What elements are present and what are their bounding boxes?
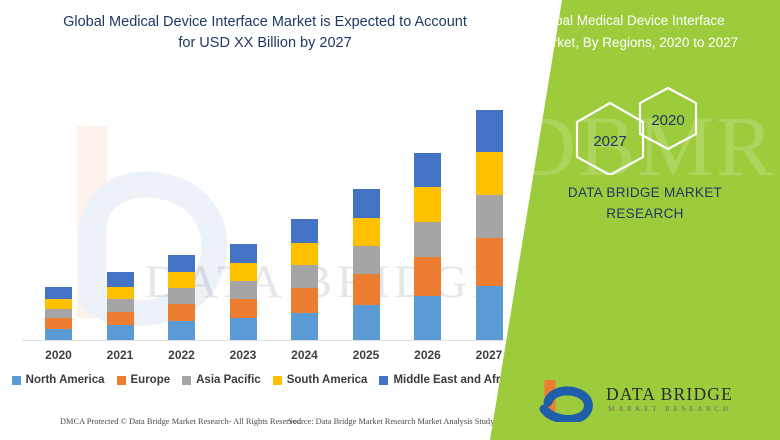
legend-label: Asia Pacific — [196, 374, 261, 386]
bar-segment — [353, 274, 380, 305]
bar-segment — [230, 244, 257, 263]
infographic-root: DATA BRIDGE MARKET RESEARCH Global Medic… — [0, 0, 780, 440]
bar-segment — [414, 296, 441, 340]
bar-segment — [45, 329, 72, 340]
bar-segment — [230, 299, 257, 318]
bar-segment — [353, 246, 380, 274]
bar-segment — [291, 219, 318, 243]
company-logo: DATA BRIDGE MARKET RESEARCH — [534, 378, 764, 424]
bar-segment — [107, 325, 134, 340]
bar-2020 — [45, 287, 72, 340]
x-axis-label-2026: 2026 — [400, 348, 456, 362]
hexagon-group: 2020 2027 — [550, 85, 740, 175]
bar-segment — [291, 288, 318, 313]
legend-item[interactable]: Europe — [117, 374, 171, 386]
hexagon-2020-label: 2020 — [651, 112, 684, 129]
bar-2021 — [107, 272, 134, 340]
bar-segment — [291, 265, 318, 288]
bar-segment — [168, 255, 195, 272]
bar-segment — [107, 272, 134, 287]
footer-copyright: DMCA Protected © Data Bridge Market Rese… — [60, 417, 303, 426]
chart-baseline — [22, 340, 512, 341]
panel-title: Global Medical Device Interface Market, … — [534, 10, 769, 54]
bar-2026 — [414, 153, 441, 340]
legend-swatch-icon — [12, 376, 21, 385]
x-axis-label-2024: 2024 — [277, 348, 333, 362]
bar-2022 — [168, 255, 195, 340]
bar-segment — [168, 272, 195, 288]
bar-2025 — [353, 189, 380, 340]
bar-segment — [107, 287, 134, 299]
legend-label: North America — [26, 374, 105, 386]
hexagon-2027-label: 2027 — [593, 133, 626, 150]
bar-segment — [476, 238, 503, 286]
bar-2024 — [291, 219, 318, 340]
chart-legend: North AmericaEuropeAsia PacificSouth Ame… — [18, 374, 510, 386]
bar-segment — [230, 281, 257, 299]
bar-segment — [476, 110, 503, 152]
legend-swatch-icon — [182, 376, 191, 385]
bar-segment — [168, 304, 195, 321]
panel-brand: DATA BRIDGE MARKET RESEARCH — [520, 182, 770, 224]
bar-segment — [45, 287, 72, 299]
bar-segment — [476, 152, 503, 195]
logo-subtitle: MARKET RESEARCH — [608, 404, 732, 413]
panel-title-line-1: Global Medical Device Interface — [534, 10, 769, 32]
legend-swatch-icon — [273, 376, 282, 385]
panel-brand-line-2: RESEARCH — [520, 203, 770, 224]
footer-source: Source: Data Bridge Market Research Mark… — [288, 417, 513, 426]
right-green-panel: DBMR Global Medical Device Interface Mar… — [490, 0, 780, 440]
bar-segment — [353, 189, 380, 217]
bar-segment — [414, 257, 441, 296]
x-axis-label-2023: 2023 — [215, 348, 271, 362]
bar-segment — [414, 153, 441, 187]
legend-item[interactable]: North America — [12, 374, 105, 386]
bar-segment — [107, 312, 134, 326]
bar-2023 — [230, 244, 257, 340]
legend-label: Europe — [131, 374, 171, 386]
bar-segment — [230, 318, 257, 340]
bar-segment — [476, 195, 503, 238]
bar-segment — [168, 321, 195, 340]
legend-swatch-icon — [117, 376, 126, 385]
bar-segment — [168, 288, 195, 304]
bar-segment — [45, 318, 72, 328]
bar-segment — [107, 299, 134, 311]
bar-segment — [45, 299, 72, 309]
bar-2027 — [476, 110, 503, 340]
x-axis-label-2021: 2021 — [92, 348, 148, 362]
legend-item[interactable]: South America — [273, 374, 368, 386]
legend-item[interactable]: Asia Pacific — [182, 374, 261, 386]
logo-mark-icon — [534, 378, 598, 422]
logo-wordmark: DATA BRIDGE — [606, 384, 733, 405]
legend-swatch-icon — [379, 376, 388, 385]
bar-segment — [45, 309, 72, 318]
bar-segment — [291, 243, 318, 266]
bar-segment — [414, 187, 441, 222]
x-axis-label-2020: 2020 — [31, 348, 87, 362]
x-axis-label-2025: 2025 — [338, 348, 394, 362]
bar-segment — [476, 286, 503, 340]
panel-brand-line-1: DATA BRIDGE MARKET — [520, 182, 770, 203]
stacked-bar-chart: 20202021202220232024202520262027 North A… — [0, 0, 520, 440]
x-axis-label-2022: 2022 — [154, 348, 210, 362]
legend-item[interactable]: Middle East and Africa — [379, 374, 516, 386]
legend-label: Middle East and Africa — [393, 374, 516, 386]
bar-segment — [414, 222, 441, 257]
bar-segment — [230, 263, 257, 281]
panel-title-line-2: Market, By Regions, 2020 to 2027 — [534, 32, 769, 54]
bar-segment — [291, 313, 318, 340]
legend-label: South America — [287, 374, 368, 386]
bar-segment — [353, 305, 380, 340]
bar-segment — [353, 218, 380, 246]
